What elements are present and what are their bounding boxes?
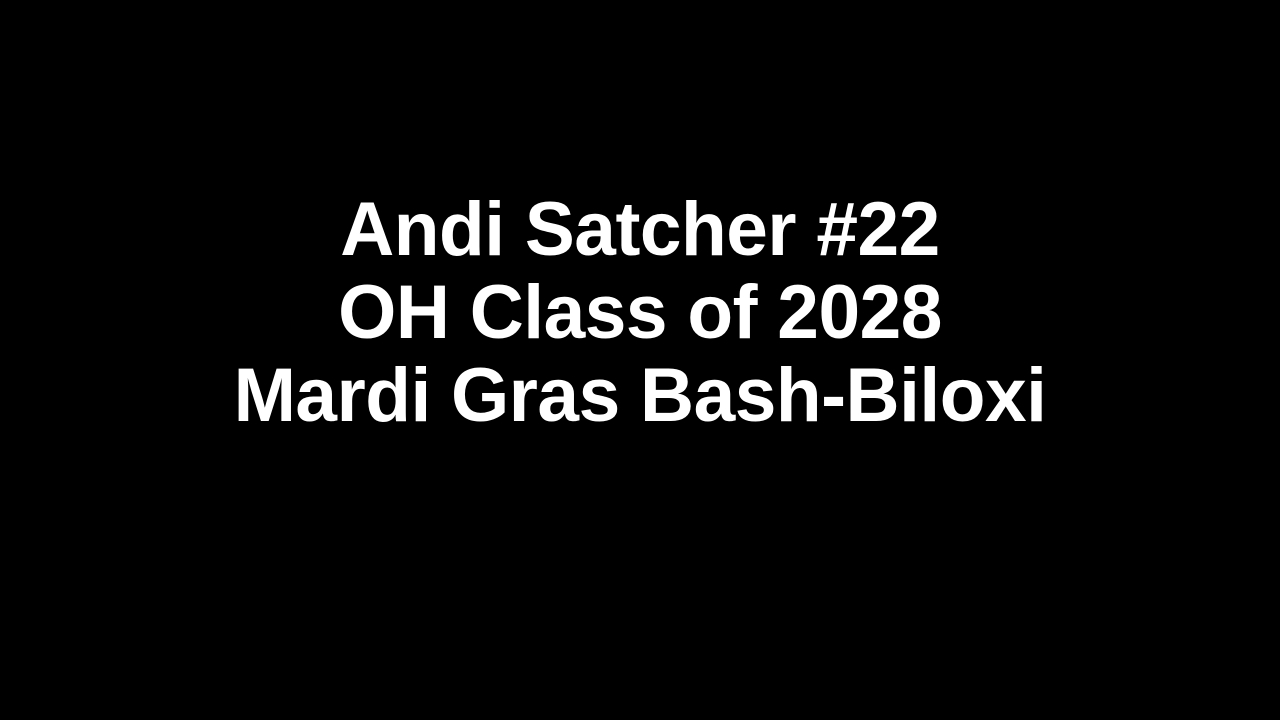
title-line-athlete: Andi Satcher #22 — [10, 188, 1271, 271]
title-card: Andi Satcher #22 OH Class of 2028 Mardi … — [0, 0, 1280, 720]
title-line-class: OH Class of 2028 — [10, 271, 1271, 354]
title-line-event: Mardi Gras Bash-Biloxi — [10, 354, 1271, 437]
video-title-card-screen: Andi Satcher #22 OH Class of 2028 Mardi … — [0, 0, 1280, 720]
